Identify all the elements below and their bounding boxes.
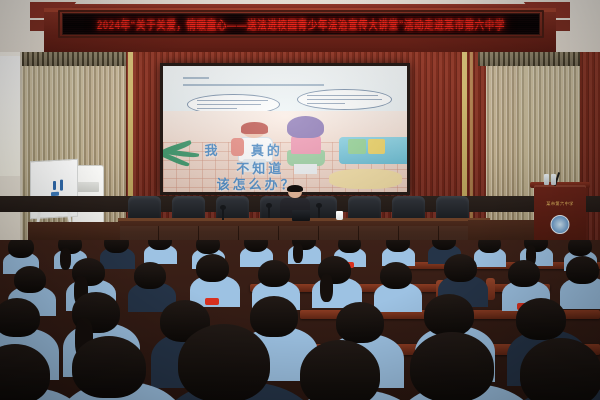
- ponytail: [293, 243, 303, 263]
- audience-person: [386, 240, 410, 256]
- audience-person: [0, 298, 40, 344]
- led-banner-text: 2024年“关于关爱，情暖童心——送法进校园青少年法治宣传大讲堂”活动走进某市第…: [97, 15, 505, 33]
- parent-hair: [287, 116, 323, 138]
- audience-head: [410, 332, 494, 400]
- audience-person: [196, 254, 229, 287]
- podium: 某市第六中学: [534, 185, 586, 247]
- slide-plant: [163, 134, 207, 169]
- audience-person: [72, 292, 120, 340]
- slide-cushion-yellow: [368, 139, 385, 154]
- audience-person: [244, 240, 268, 256]
- audience-area: [0, 240, 600, 400]
- projection-screen: 我 真的 不知道 该怎么办？: [163, 66, 407, 192]
- laptop: [292, 210, 310, 221]
- bubble-left-line-2: [197, 104, 260, 105]
- audience-head: [336, 302, 384, 343]
- ceiling-panel-left: [0, 0, 30, 58]
- bubble-right-line-2: [307, 99, 381, 100]
- audience-person-foreground: [0, 344, 50, 400]
- audience-person: [14, 266, 46, 298]
- microphone-left: [268, 206, 270, 218]
- audience-head: [424, 294, 474, 336]
- audience-person: [444, 254, 477, 287]
- audience-head: [338, 240, 361, 253]
- audience-head: [258, 260, 290, 287]
- audience-person: [58, 240, 82, 258]
- audience-person: [338, 240, 361, 257]
- ponytail: [60, 248, 71, 270]
- audience-head: [0, 344, 50, 400]
- audience-head: [134, 262, 166, 289]
- microphone-right: [318, 206, 320, 218]
- audience-head: [0, 298, 40, 337]
- audience-person: [292, 240, 316, 254]
- slide-handwriting-line1a: 我: [204, 140, 220, 159]
- audience-person: [134, 262, 166, 294]
- audience-person: [8, 240, 34, 262]
- audience-head: [196, 240, 220, 254]
- audience-person: [148, 240, 172, 254]
- audience-head: [72, 336, 146, 398]
- slide-subtext-line: [183, 84, 325, 86]
- audience-head: [14, 266, 46, 293]
- ceiling-panel-right: [570, 0, 600, 58]
- podium-inscription: 某市第六中学: [534, 201, 586, 207]
- audience-person-foreground: [520, 338, 600, 400]
- bubble-left-line-1: [197, 100, 267, 101]
- slide-handwriting-line1b: 真的: [251, 140, 283, 159]
- audience-head: [380, 262, 412, 289]
- audience-head: [300, 340, 380, 400]
- child-backpack: [231, 138, 243, 155]
- ponytail: [320, 274, 333, 302]
- audience-person-foreground: [178, 324, 270, 400]
- audience-head: [508, 260, 540, 287]
- child-hair: [241, 122, 268, 133]
- whiteboard-mark-2: [60, 180, 63, 191]
- presenter-hair: [287, 185, 303, 193]
- window-daylight: [0, 56, 22, 176]
- podium-bottle-1: [544, 174, 549, 185]
- audience-head: [568, 240, 592, 256]
- audience-head: [478, 240, 501, 253]
- led-scroll-banner: 2024年“关于关爱，情暖童心——送法进校园青少年法治宣传大讲堂”活动走进某市第…: [62, 13, 540, 35]
- school-emblem-icon: [551, 215, 570, 234]
- audience-person-foreground: [410, 332, 494, 400]
- audience-head: [444, 254, 477, 282]
- podium-bottle-2: [551, 174, 556, 185]
- auditorium-photo: 2024年“关于关爱，情暖童心——送法进校园青少年法治宣传大讲堂”活动走进某市第…: [0, 0, 600, 400]
- audience-person-foreground: [300, 340, 380, 400]
- projection-screen-frame: 我 真的 不知道 该怎么办？: [160, 63, 410, 195]
- speech-bubble-right: [297, 89, 392, 110]
- audience-person: [318, 256, 351, 289]
- audience-head: [8, 240, 34, 258]
- slide-cushion-green: [348, 139, 365, 154]
- whiteboard-mark-1: [53, 181, 56, 190]
- audience-person: [508, 260, 540, 292]
- water-cup: [336, 211, 343, 220]
- audience-head: [520, 338, 600, 400]
- curtain-valance-right: [478, 52, 580, 66]
- audience-person: [478, 240, 501, 257]
- audience-head: [566, 256, 599, 284]
- audience-head: [516, 298, 566, 340]
- audience-person: [566, 256, 599, 289]
- audience-person: [104, 240, 129, 257]
- audience-person-foreground: [72, 336, 146, 400]
- bubble-right-line-1: [307, 95, 377, 96]
- slide-parent-figure: [285, 116, 326, 174]
- microphone-far-left: [222, 208, 224, 220]
- audience-person: [72, 258, 105, 291]
- audience-head: [196, 254, 229, 282]
- audience-person: [380, 262, 412, 294]
- slide-rug: [329, 169, 402, 189]
- audience-person: [258, 260, 290, 292]
- parent-legs: [294, 164, 317, 174]
- audience-head: [178, 324, 270, 400]
- audience-person: [432, 240, 456, 254]
- curtain-valance-left: [22, 52, 126, 66]
- slide-heading-line: [183, 77, 210, 79]
- audience-person: [524, 240, 548, 256]
- bubble-right-line-3: [307, 103, 344, 104]
- bubble-left-line-3: [197, 108, 237, 109]
